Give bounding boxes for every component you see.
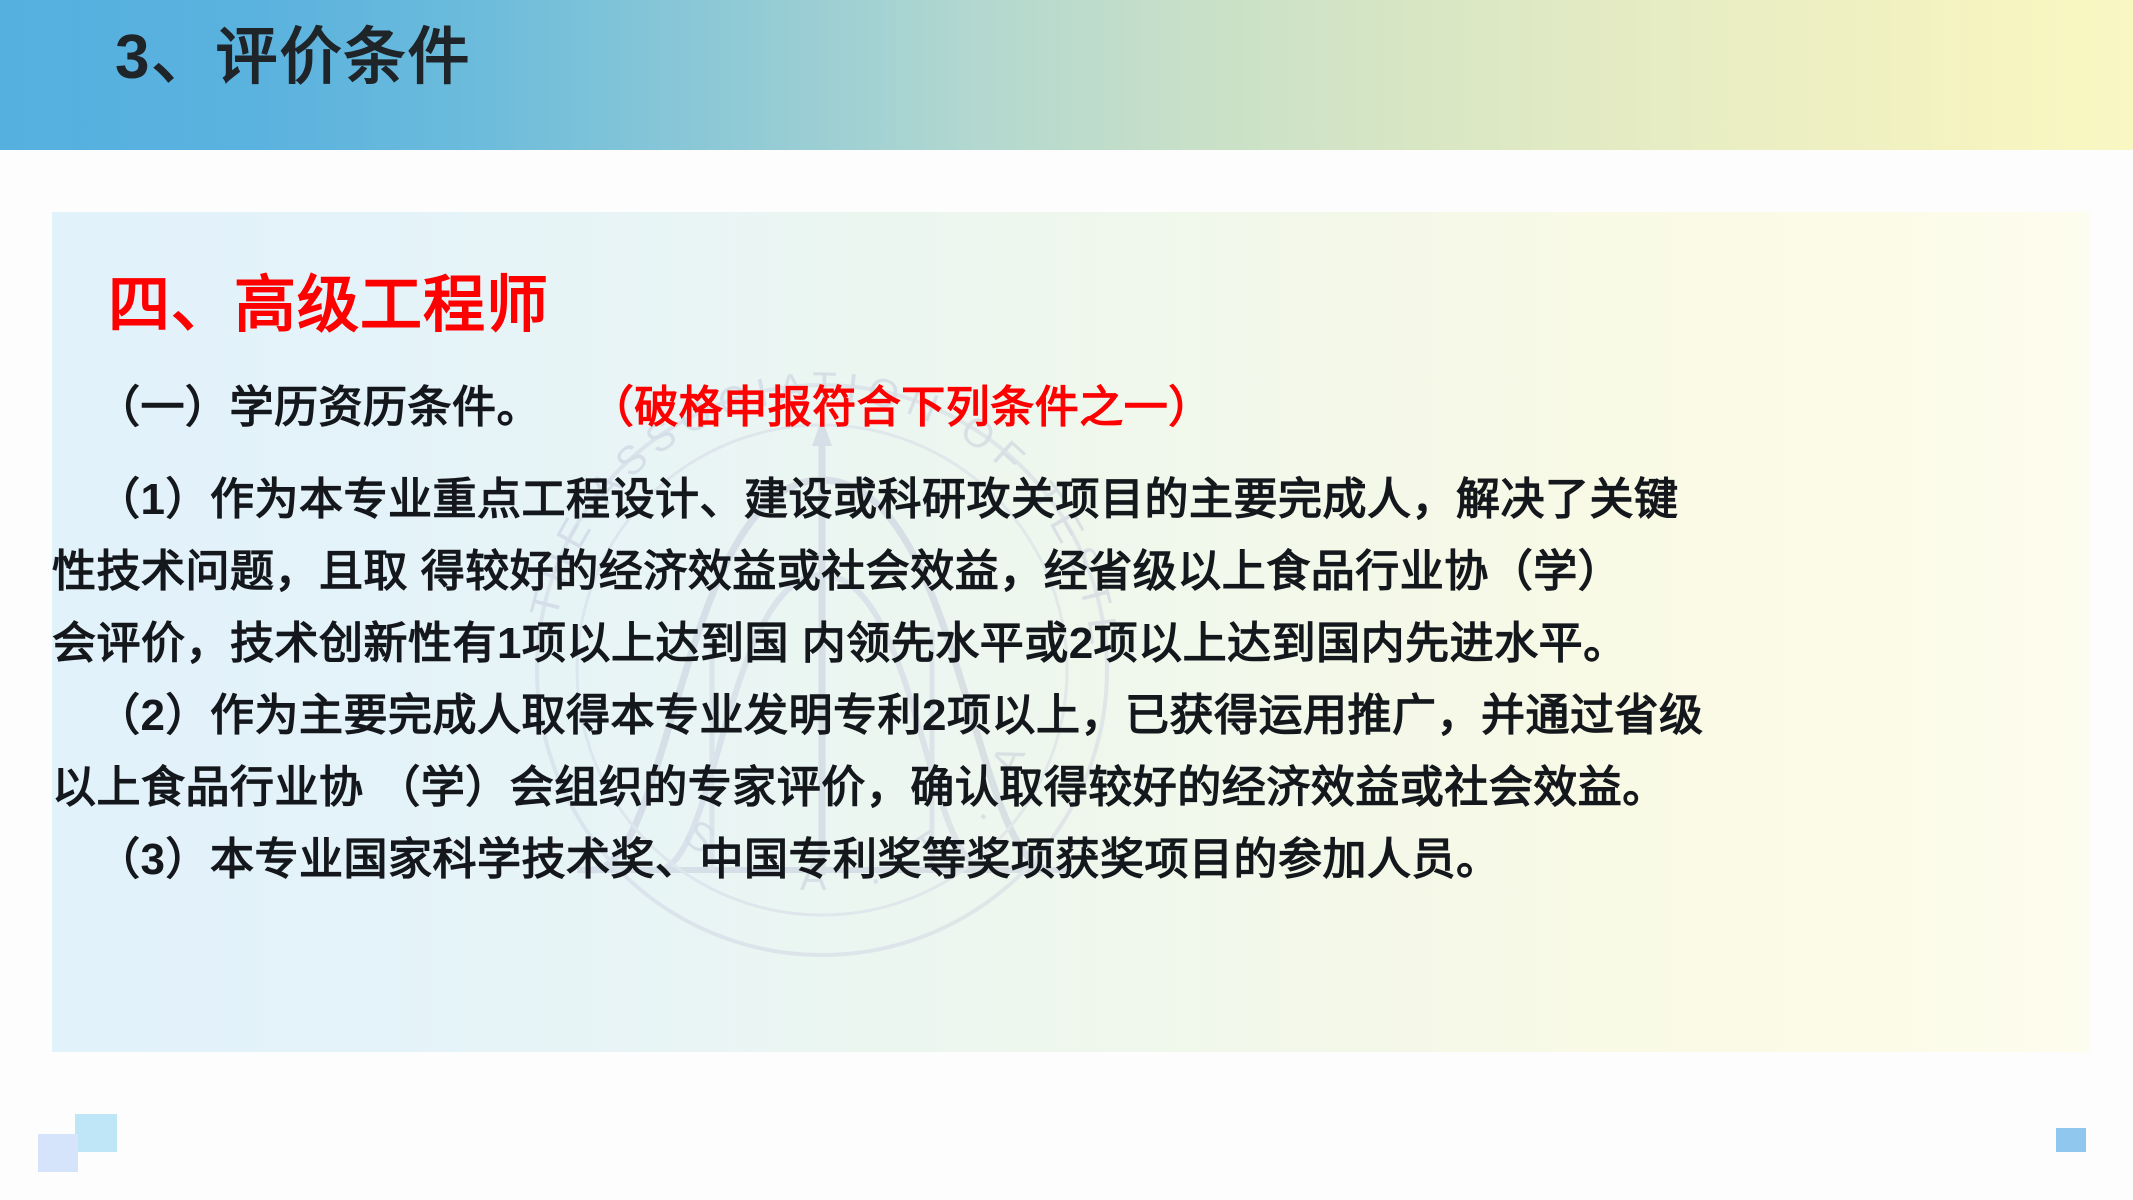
condition-1-line-3: 会评价，技术创新性有1项以上达到国 内领先水平或2项以上达到国内先进水平。 (52, 608, 2090, 680)
condition-1-line-2: 性技术问题，且取 得较好的经济效益或社会效益，经省级以上食品行业协（学） (52, 536, 2090, 608)
qualification-label: （一）学历资历条件。 (96, 383, 541, 432)
slide-canvas: 3、评价条件 THE ASSOCIATION OF T (0, 0, 2133, 1200)
paragraph-condition-3: （3）本专业国家科学技术奖、中国专利奖等奖项获奖项目的参加人员。 (52, 824, 2090, 896)
condition-2-line-1: （2）作为主要完成人取得本专业发明专利2项以上，已获得运用推广，并通过省级 (52, 680, 2090, 752)
exception-note: （破格申报符合下列条件之一） (554, 383, 1213, 432)
condition-2-line-2: 以上食品行业协 （学）会组织的专家评价，确认取得较好的经济效益或社会效益。 (52, 752, 2090, 824)
paragraph-condition-2: （2）作为主要完成人取得本专业发明专利2项以上，已获得运用推广，并通过省级 以上… (52, 680, 2090, 824)
condition-1-line-1: （1）作为本专业重点工程设计、建设或科研攻关项目的主要完成人，解决了关键 (52, 464, 2090, 536)
slide-header-band: 3、评价条件 (0, 0, 2133, 150)
page-title: 3、评价条件 (115, 24, 471, 92)
paragraph-condition-1: （1）作为本专业重点工程设计、建设或科研攻关项目的主要完成人，解决了关键 性技术… (52, 464, 2090, 680)
content-panel: THE ASSOCIATION OF TESTERS AND MANAGERS … (52, 212, 2090, 1052)
decoration-bottom-right (2056, 1128, 2086, 1152)
paragraph-qualification-heading: （一）学历资历条件。 （破格申报符合下列条件之一） (52, 372, 2090, 444)
decoration-square-back (75, 1114, 117, 1152)
section-heading: 四、高级工程师 (108, 254, 549, 344)
decoration-bottom-left (38, 1114, 138, 1184)
decoration-square-front (38, 1134, 78, 1172)
condition-3-line-1: （3）本专业国家科学技术奖、中国专利奖等奖项获奖项目的参加人员。 (52, 824, 2090, 896)
slide-text-block: 四、高级工程师 （一）学历资历条件。 （破格申报符合下列条件之一） （1）作为本… (52, 212, 2090, 1052)
